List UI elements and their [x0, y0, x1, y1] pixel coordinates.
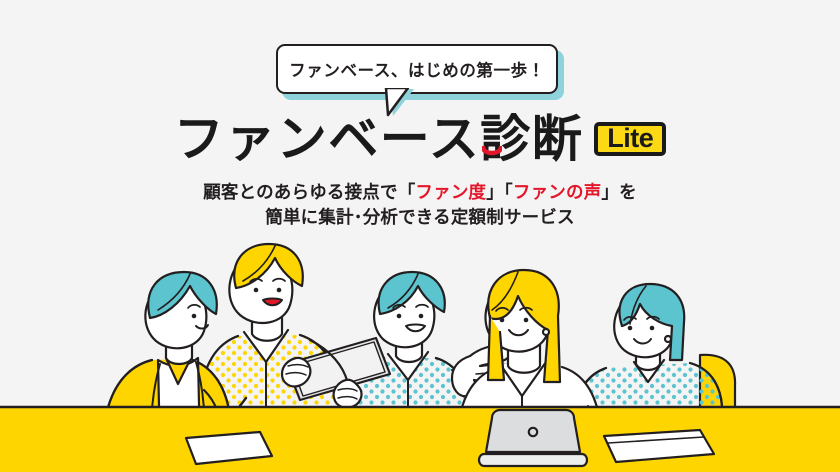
page-title: ファンベース診断	[174, 114, 584, 164]
laptop-icon	[479, 410, 587, 466]
conference-table	[0, 407, 840, 472]
subtitle-line-2: 簡単に集計･分析できる定額制サービス	[0, 205, 840, 230]
title-row: ファンベース診断 Lite	[0, 108, 840, 170]
subtitle-line1-prefix: 顧客とのあらゆる接点で「	[203, 182, 415, 202]
lite-badge-text: Lite	[607, 125, 653, 152]
speech-bubble-box: ファンベース、はじめの第一歩！	[276, 44, 558, 94]
subtitle-highlight-fan-voice: ファンの声	[513, 182, 602, 202]
subtitle: 顧客とのあらゆる接点で「ファン度」「ファンの声」を 簡単に集計･分析できる定額制…	[0, 180, 840, 230]
hand-left	[334, 380, 362, 408]
subtitle-line1-suffix: 」を	[601, 182, 636, 202]
page-title-text: ファンベース診断	[174, 111, 584, 167]
hero-banner: ファンベース、はじめの第一歩！ ファンベース診断 Lite 顧客とのあらゆる接点…	[0, 0, 840, 472]
subtitle-line1-mid: 」「	[486, 182, 513, 202]
hand-right	[282, 358, 310, 387]
speech-bubble: ファンベース、はじめの第一歩！	[276, 44, 564, 100]
lite-badge: Lite	[594, 122, 666, 156]
subtitle-line-1: 顧客とのあらゆる接点で「ファン度」「ファンの声」を	[0, 180, 840, 205]
speech-bubble-text: ファンベース、はじめの第一歩！	[289, 57, 545, 81]
meeting-illustration	[0, 240, 840, 472]
smile-accent-icon	[482, 146, 502, 157]
subtitle-highlight-fan-level: ファン度	[415, 182, 486, 202]
